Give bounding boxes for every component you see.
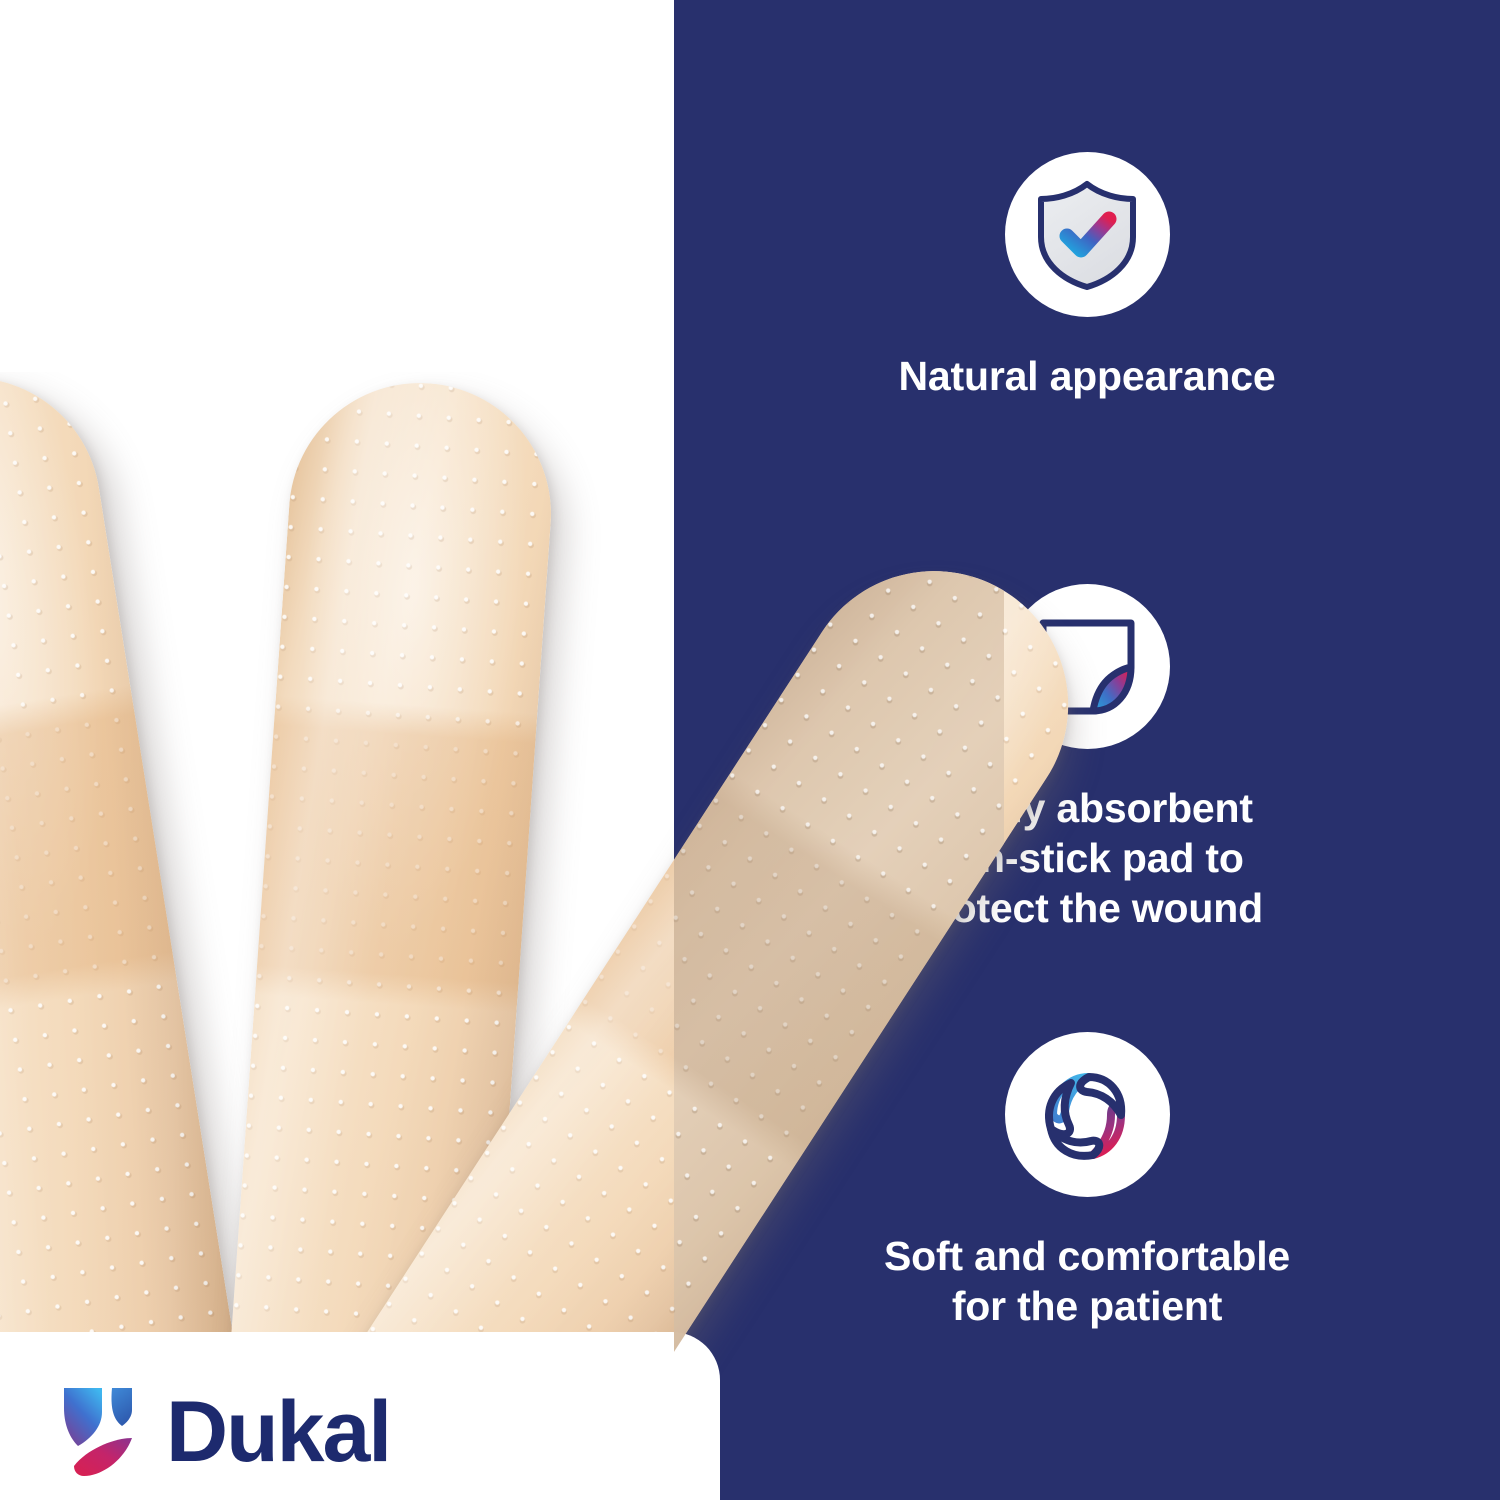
feature-icon-badge bbox=[1005, 1032, 1170, 1197]
product-photo-panel bbox=[0, 0, 674, 1500]
feature-icon-badge bbox=[1005, 152, 1170, 317]
bandage-sheen bbox=[0, 359, 258, 1500]
brand-logo: Dukal bbox=[62, 1382, 390, 1482]
brand-wordmark: Dukal bbox=[166, 1389, 390, 1475]
product-feature-graphic: Natural appearance bbox=[0, 0, 1500, 1500]
feature-caption: Natural appearance bbox=[674, 351, 1500, 401]
comfort-pinwheel-icon bbox=[1031, 1059, 1143, 1171]
bandage-strip-left bbox=[0, 359, 258, 1500]
feature-caption-line: Soft and comfortable bbox=[714, 1231, 1460, 1281]
feature-item-natural-appearance: Natural appearance bbox=[674, 152, 1500, 401]
bandage-pad bbox=[255, 695, 537, 1013]
feature-caption-line: Natural appearance bbox=[714, 351, 1460, 401]
feature-caption-line: for the patient bbox=[714, 1281, 1460, 1331]
bandage-pad bbox=[0, 685, 177, 1022]
shield-check-icon bbox=[1033, 179, 1141, 291]
feature-caption: Soft and comfortable for the patient bbox=[674, 1231, 1500, 1331]
photo-top-mask bbox=[0, 0, 674, 372]
dukal-shield-mark-icon bbox=[62, 1382, 146, 1482]
